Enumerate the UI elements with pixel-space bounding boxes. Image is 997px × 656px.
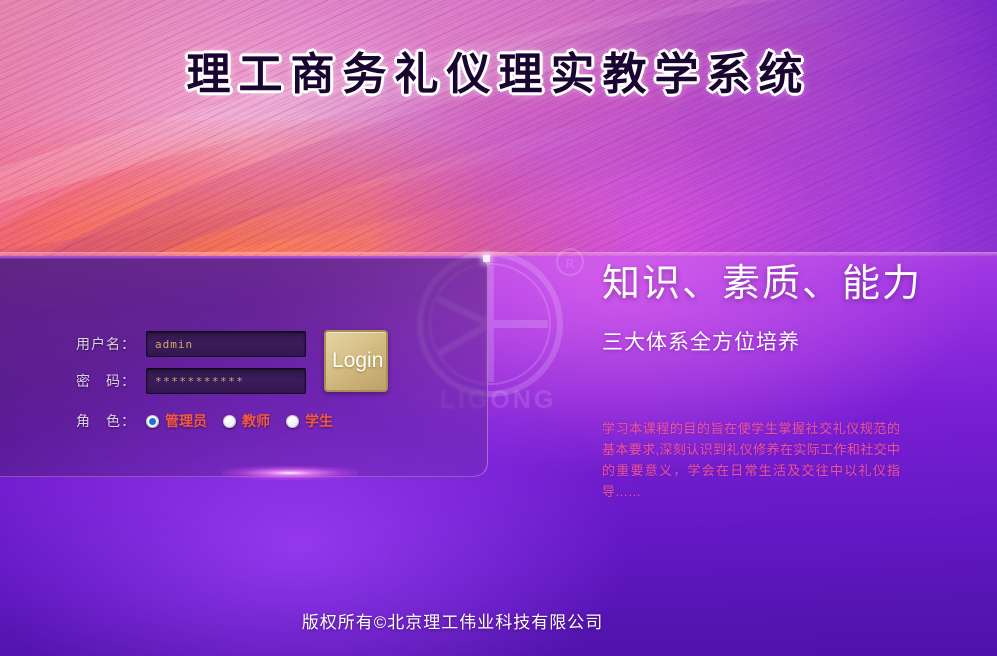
role-option-teacher-label: 教师 <box>242 411 270 431</box>
password-label: 密 码： <box>60 371 136 391</box>
username-label: 用户名： <box>60 334 136 354</box>
radio-unselected-icon <box>286 415 299 428</box>
role-radio-group: 管理员 教师 学生 <box>146 411 349 431</box>
course-blurb: 学习本课程的目的旨在使学生掌握社交礼仪规范的基本要求,深刻认识到礼仪修养在实际工… <box>602 418 900 502</box>
role-label: 角 色： <box>60 411 136 431</box>
role-option-student[interactable]: 学生 <box>286 411 333 431</box>
role-option-admin-label: 管理员 <box>165 411 207 431</box>
slogan-main: 知识、素质、能力 <box>602 252 922 307</box>
password-row: 密 码： <box>60 368 306 394</box>
footer-copyright: 版权所有©北京理工伟业科技有限公司 <box>0 608 905 633</box>
panel-corner-glint <box>483 255 490 262</box>
slogan-sub: 三大体系全方位培养 <box>602 326 800 356</box>
role-option-admin[interactable]: 管理员 <box>146 411 207 431</box>
radio-selected-icon <box>146 415 159 428</box>
role-option-teacher[interactable]: 教师 <box>223 411 270 431</box>
role-option-student-label: 学生 <box>305 411 333 431</box>
radio-unselected-icon <box>223 415 236 428</box>
username-row: 用户名： <box>60 331 306 357</box>
login-page: R LIGONG 理工商务礼仪理实教学系统 用户名： 密 码： 角 色： 管理员… <box>0 0 997 656</box>
password-input[interactable] <box>146 368 306 394</box>
page-title: 理工商务礼仪理实教学系统 <box>0 38 997 102</box>
username-input[interactable] <box>146 331 306 357</box>
login-button[interactable]: Login <box>324 330 388 392</box>
role-row: 角 色： 管理员 教师 学生 <box>60 411 349 431</box>
login-panel <box>0 257 488 477</box>
